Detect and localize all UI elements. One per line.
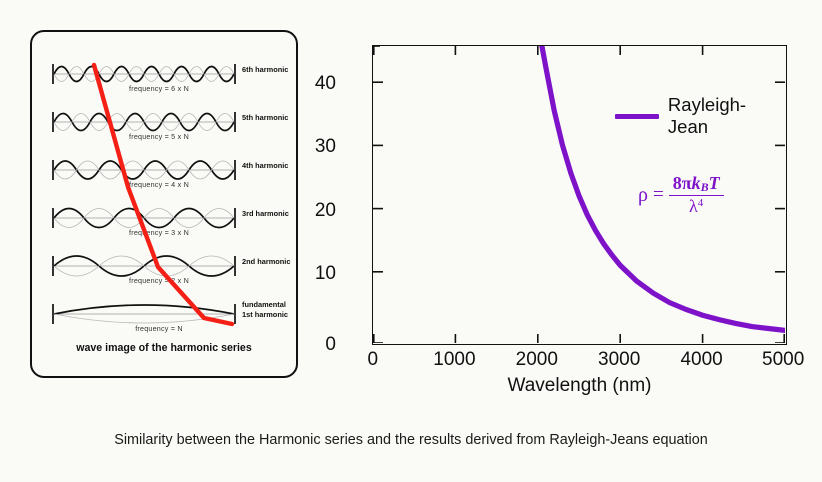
rayleigh-jeans-formula: ρ = 8πkBT λ4 <box>638 174 724 216</box>
string-end-right <box>234 208 236 228</box>
plot-frame: Rayleigh-Jean ρ = 8πkBT λ4 <box>372 45 787 345</box>
harmonic-row: frequency = 4 x N 4th harmonic <box>44 150 288 190</box>
xtick-label-2000: 2000 <box>497 349 577 371</box>
frequency-label: frequency = N <box>84 324 234 333</box>
harmonic-name: 4th harmonic <box>242 161 312 171</box>
harmonic-name: 5th harmonic <box>242 113 312 123</box>
string-end-right <box>234 304 236 324</box>
harmonic-row: frequency = 2 x N 2nd harmonic <box>44 246 288 286</box>
harmonic-name-line2: 1st harmonic <box>242 310 288 319</box>
string-end-right <box>234 256 236 276</box>
harmonic-row: frequency = 6 x N 6th harmonic <box>44 54 288 94</box>
frequency-label: frequency = 4 x N <box>84 180 234 189</box>
ytick-label-30: 30 <box>276 136 336 158</box>
xtick-label-4000: 4000 <box>662 349 742 371</box>
formula-8pi: 8π <box>673 173 692 193</box>
harmonic-name-line1: fundamental <box>242 300 286 309</box>
frequency-label: frequency = 5 x N <box>84 132 234 141</box>
formula-k-subscript: B <box>701 180 709 194</box>
x-axis-title: Wavelength (nm) <box>372 375 787 397</box>
harmonic-row: frequency = 3 x N 3rd harmonic <box>44 198 288 238</box>
harmonic-series-panel: frequency = 6 x N 6th harmonic frequency… <box>30 30 298 378</box>
formula-lambda-exponent: 4 <box>698 197 704 209</box>
string-end-right <box>234 160 236 180</box>
ytick-label-10: 10 <box>276 263 336 285</box>
formula-fraction: 8πkBT λ4 <box>669 174 724 216</box>
chart-legend: Rayleigh-Jean <box>615 94 786 138</box>
legend-label: Rayleigh-Jean <box>668 94 786 138</box>
formula-denominator: λ4 <box>685 196 707 216</box>
legend-color-swatch <box>615 114 659 119</box>
formula-numerator: 8πkBT <box>669 174 724 195</box>
formula-T: T <box>709 173 720 193</box>
string-end-right <box>234 64 236 84</box>
xtick-label-1000: 1000 <box>414 349 494 371</box>
rayleigh-jeans-plot: Rayleigh-Jean ρ = 8πkBT λ4 0 10 20 30 40… <box>320 18 810 408</box>
figure-caption: Similarity between the Harmonic series a… <box>0 432 822 448</box>
formula-lambda: λ <box>689 196 698 216</box>
string-end-right <box>234 112 236 132</box>
formula-equals: = <box>653 184 664 206</box>
ytick-label-40: 40 <box>276 73 336 95</box>
formula-rho: ρ <box>638 184 648 207</box>
frequency-label: frequency = 2 x N <box>84 276 234 285</box>
harmonic-name: fundamental1st harmonic <box>242 300 312 319</box>
frequency-label: frequency = 3 x N <box>84 228 234 237</box>
harmonic-row: frequency = 5 x N 5th harmonic <box>44 102 288 142</box>
xtick-label-5000: 5000 <box>743 349 822 371</box>
harmonic-panel-caption: wave image of the harmonic series <box>32 342 296 354</box>
xtick-label-0: 0 <box>333 349 413 371</box>
ytick-label-0: 0 <box>276 334 336 356</box>
harmonic-row: frequency = N fundamental1st harmonic <box>44 294 288 334</box>
xtick-label-3000: 3000 <box>579 349 659 371</box>
frequency-label: frequency = 6 x N <box>84 84 234 93</box>
ytick-label-20: 20 <box>276 200 336 222</box>
formula-k: k <box>692 173 701 193</box>
